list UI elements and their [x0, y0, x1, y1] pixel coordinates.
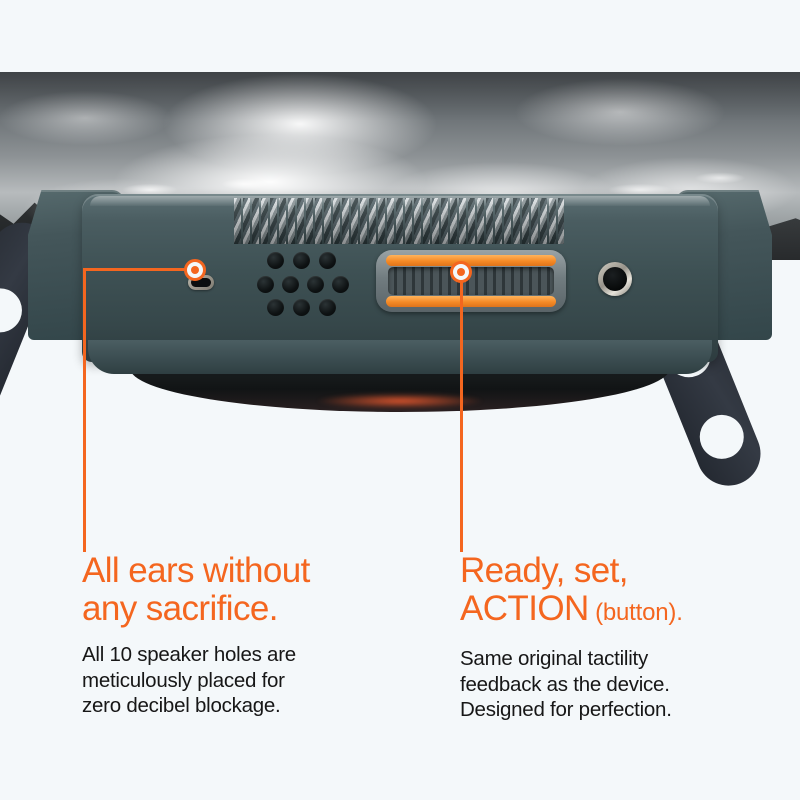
speaker-hole [293, 252, 310, 269]
device-bottom-glow [280, 390, 520, 412]
speaker-hole [267, 299, 284, 316]
callout-line-vertical-left [83, 268, 86, 552]
speaker-hole [332, 276, 349, 293]
action-button[interactable] [376, 250, 566, 312]
speaker-hole [267, 252, 284, 269]
callout-marker-speaker-holes [184, 259, 206, 281]
callout-text-block-left: All ears without any sacrifice. All 10 s… [82, 552, 382, 719]
callout-body-right: Same original tactility feedback as the … [460, 646, 770, 723]
callout-headline-left: All ears without any sacrifice. [82, 552, 382, 628]
callout-body-left: All 10 speaker holes are meticulously pl… [82, 642, 382, 719]
side-port-opening [603, 267, 627, 291]
side-port [598, 262, 632, 296]
speaker-hole [319, 252, 336, 269]
callout-marker-action-button [450, 261, 472, 283]
speaker-hole-grid [263, 252, 349, 316]
callout-text-block-right: Ready, set, ACTION (button). Same origin… [460, 552, 770, 723]
speaker-hole [282, 276, 299, 293]
action-button-accent-bottom [386, 296, 556, 307]
callout-line-horizontal-left [83, 268, 187, 271]
speaker-hole [293, 299, 310, 316]
speaker-hole [257, 276, 274, 293]
callout-headline-right: Ready, set, ACTION (button). [460, 552, 770, 632]
speaker-hole [319, 299, 336, 316]
callout-line-vertical-right [460, 272, 463, 552]
speaker-hole [307, 276, 324, 293]
callout-headline-right-suffix: (button). [589, 599, 683, 626]
action-button-accent-top [386, 255, 556, 266]
grip-shading [234, 198, 564, 244]
marketing-page: All ears without any sacrifice. All 10 s… [0, 0, 800, 800]
case-lower-band [88, 340, 712, 374]
rugged-case-top-edge [28, 190, 772, 380]
